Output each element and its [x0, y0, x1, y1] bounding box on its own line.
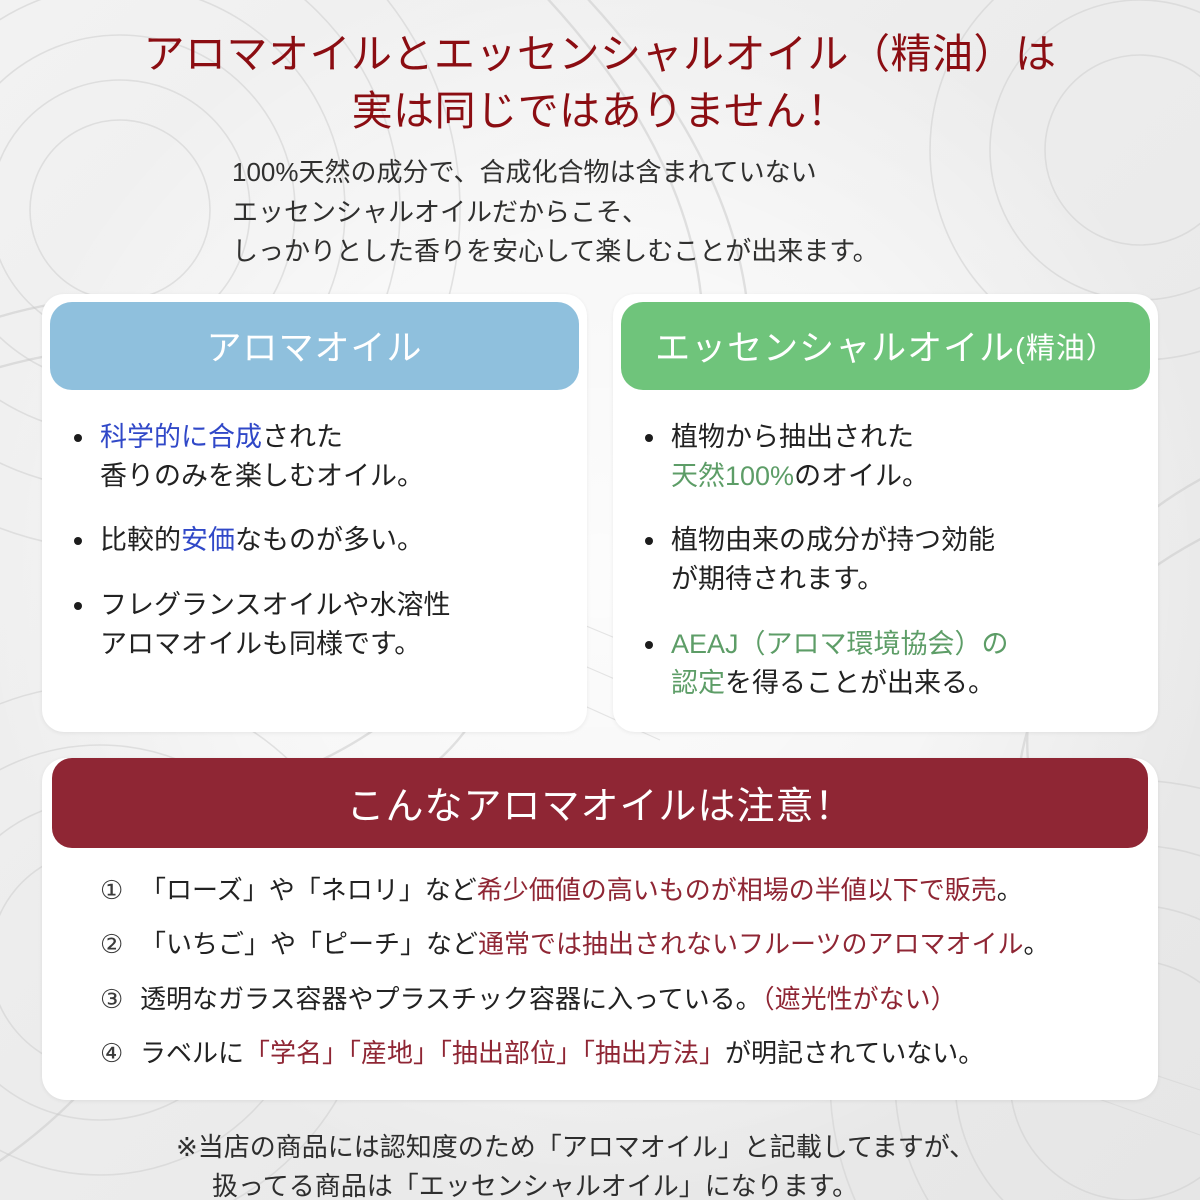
text-fragment: された [262, 422, 343, 452]
caution-list: ①「ローズ」や「ネロリ」など希少価値の高いものが相場の半値以下で販売。②「いちご… [42, 848, 1158, 1070]
text-fragment: を得ることが出来る。 [725, 668, 995, 698]
caution-item-text: 透明なガラス容器やプラスチック容器に入っている。（遮光性がない） [140, 983, 1118, 1016]
lead-line-2: エッセンシャルオイルだからこそ、 [232, 193, 1200, 233]
footer-note-line2: 扱ってる商品は「エッセンシャルオイル」になります。 [176, 1167, 1200, 1200]
caution-list-item: ③透明なガラス容器やプラスチック容器に入っている。（遮光性がない） [100, 983, 1118, 1016]
text-fragment: 通常では抽出されないフルーツのアロマオイル [478, 929, 1023, 959]
infographic-page: アロマオイルとエッセンシャルオイル（精油）は 実は同じではありません！ 100%… [0, 0, 1200, 1200]
caution-item-text: 「ローズ」や「ネロリ」など希少価値の高いものが相場の半値以下で販売。 [140, 874, 1118, 907]
text-fragment: が明記されていない。 [725, 1038, 984, 1068]
page-title: アロマオイルとエッセンシャルオイル（精油）は 実は同じではありません！ [0, 26, 1200, 139]
caution-item-text: ラベルに「学名」「産地」「抽出部位」「抽出方法」が明記されていない。 [140, 1037, 1118, 1070]
comparison-cards: アロマオイル 科学的に合成された香りのみを楽しむオイル。比較的安価なものが多い。… [42, 294, 1158, 732]
text-fragment: 植物由来の成分が持つ効能 [671, 525, 995, 555]
text-fragment: 「いちご」や「ピーチ」など [140, 929, 478, 959]
text-fragment: 。 [1024, 929, 1050, 959]
text-fragment: 比較的 [100, 525, 181, 555]
card-header-aroma-oil: アロマオイル [50, 302, 579, 390]
text-fragment: 安価 [181, 525, 235, 555]
card-header-essential-oil-label: エッセンシャルオイル [655, 320, 1015, 371]
text-fragment: 。 [997, 875, 1023, 905]
text-fragment: のオイル。 [794, 461, 929, 491]
caution-header: こんなアロマオイルは注意！ [52, 758, 1148, 848]
page-header: アロマオイルとエッセンシャルオイル（精油）は 実は同じではありません！ [0, 0, 1200, 139]
caution-list-item: ②「いちご」や「ピーチ」など通常では抽出されないフルーツのアロマオイル。 [100, 928, 1118, 961]
caution-list-item: ①「ローズ」や「ネロリ」など希少価値の高いものが相場の半値以下で販売。 [100, 874, 1118, 907]
lead-line-3: しっかりとした香りを安心して楽しむことが出来ます。 [232, 232, 1200, 272]
lead-paragraph: 100%天然の成分で、合成化合物は含まれていない エッセンシャルオイルだからこそ… [0, 153, 1200, 272]
text-fragment: 香りのみを楽しむオイル。 [100, 461, 424, 491]
text-fragment: AEAJ（アロマ環境協会）の [671, 629, 1009, 659]
text-fragment: 透明なガラス容器やプラスチック容器に入っている。 [140, 984, 762, 1014]
bullet-item: 比較的安価なものが多い。 [68, 521, 573, 560]
text-fragment: 植物から抽出された [671, 422, 914, 452]
caution-item-text: 「いちご」や「ピーチ」など通常では抽出されないフルーツのアロマオイル。 [140, 928, 1118, 961]
bullet-item: 植物由来の成分が持つ効能が期待されます。 [639, 521, 1144, 599]
text-fragment: 認定 [671, 668, 725, 698]
bullet-list-essential-oil: 植物から抽出された天然100%のオイル。植物由来の成分が持つ効能が期待されます。… [613, 390, 1158, 703]
caution-header-label: こんなアロマオイルは注意！ [346, 775, 853, 830]
card-header-essential-oil-sub: (精油） [1015, 325, 1116, 367]
text-fragment: 「ローズ」や「ネロリ」など [140, 875, 477, 905]
text-fragment: アロマオイルも同様です。 [100, 629, 421, 659]
text-fragment: ラベルに [140, 1038, 244, 1068]
caution-item-number: ① [100, 874, 140, 907]
bullet-item: 科学的に合成された香りのみを楽しむオイル。 [68, 418, 573, 496]
bullet-list-aroma-oil: 科学的に合成された香りのみを楽しむオイル。比較的安価なものが多い。フレグランスオ… [42, 390, 587, 664]
page-title-line2: 実は同じではありません！ [60, 83, 1140, 140]
card-header-essential-oil: エッセンシャルオイル(精油） [621, 302, 1150, 390]
bullet-item: 植物から抽出された天然100%のオイル。 [639, 418, 1144, 496]
card-aroma-oil: アロマオイル 科学的に合成された香りのみを楽しむオイル。比較的安価なものが多い。… [42, 294, 587, 732]
text-fragment: フレグランスオイルや水溶性 [100, 590, 450, 620]
text-fragment: なものが多い。 [235, 525, 424, 555]
text-fragment: 天然100% [671, 461, 794, 491]
caution-card: こんなアロマオイルは注意！ ①「ローズ」や「ネロリ」など希少価値の高いものが相場… [42, 758, 1158, 1100]
caution-item-number: ② [100, 928, 140, 961]
footer-note-line1: ※当店の商品には認知度のため「アロマオイル」と記載してますが、 [176, 1128, 1200, 1167]
text-fragment: 希少価値の高いものが相場の半値以下で販売 [477, 875, 997, 905]
text-fragment: 科学的に合成 [100, 422, 262, 452]
lead-line-1: 100%天然の成分で、合成化合物は含まれていない [232, 153, 1200, 193]
caution-item-number: ④ [100, 1037, 140, 1070]
bullet-item: フレグランスオイルや水溶性アロマオイルも同様です。 [68, 586, 573, 664]
caution-item-number: ③ [100, 983, 140, 1016]
page-title-line1: アロマオイルとエッセンシャルオイル（精油）は [144, 31, 1057, 77]
card-essential-oil: エッセンシャルオイル(精油） 植物から抽出された天然100%のオイル。植物由来の… [613, 294, 1158, 732]
text-fragment: （遮光性がない） [762, 984, 957, 1014]
caution-list-item: ④ラベルに「学名」「産地」「抽出部位」「抽出方法」が明記されていない。 [100, 1037, 1118, 1070]
text-fragment: 「学名」「産地」「抽出部位」「抽出方法」 [244, 1038, 725, 1068]
card-header-aroma-oil-label: アロマオイル [206, 320, 422, 371]
text-fragment: が期待されます。 [671, 564, 884, 594]
bullet-item: AEAJ（アロマ環境協会）の認定を得ることが出来る。 [639, 625, 1144, 703]
footer-note: ※当店の商品には認知度のため「アロマオイル」と記載してますが、 扱ってる商品は「… [0, 1128, 1200, 1200]
